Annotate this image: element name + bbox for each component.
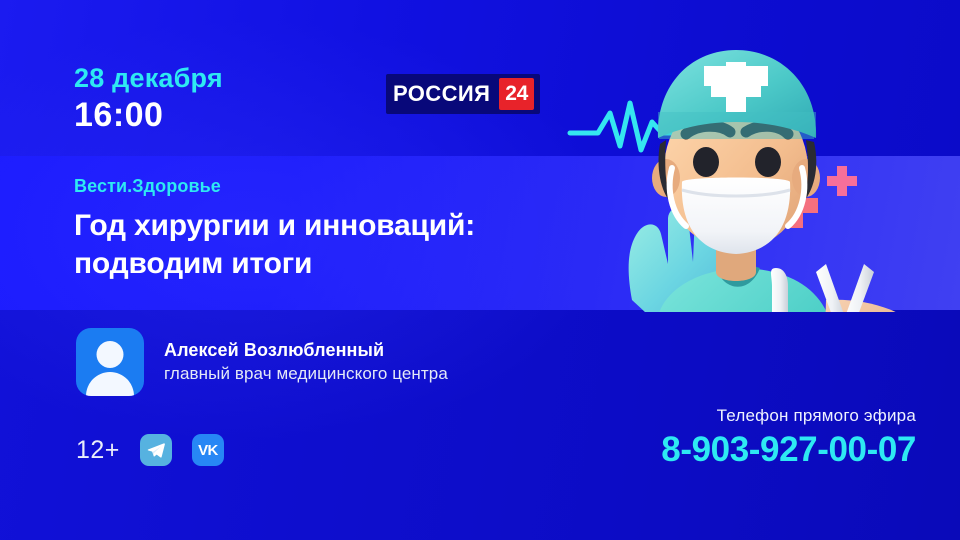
hotline-label: Телефон прямого эфира	[661, 406, 916, 426]
program-title: Год хирургии и инноваций: подводим итоги	[74, 207, 544, 284]
program-block: Вести.Здоровье Год хирургии и инноваций:…	[74, 176, 544, 284]
vk-glyph: VK	[198, 442, 218, 459]
hotline-block: Телефон прямого эфира 8-903-927-00-07	[661, 406, 916, 470]
broadcast-poster: РОССИЯ 24 28 декабря 16:00 Вести.Здоровь…	[0, 0, 960, 540]
hotline-number[interactable]: 8-903-927-00-07	[661, 431, 916, 470]
avatar-head	[97, 341, 124, 368]
channel-name: РОССИЯ	[393, 83, 490, 105]
channel-number-badge: 24	[499, 78, 534, 110]
guest-role: главный врач медицинского центра	[164, 364, 448, 384]
broadcast-datetime: 28 декабря 16:00	[74, 64, 223, 135]
channel-logo: РОССИЯ 24	[386, 74, 540, 114]
broadcast-time: 16:00	[74, 96, 223, 135]
person-avatar-icon	[76, 328, 144, 396]
program-title-line-2: подводим итоги	[74, 245, 544, 283]
telegram-icon[interactable]	[140, 434, 172, 466]
program-name: Вести.Здоровье	[74, 176, 544, 197]
footer-row: 12+ VK	[76, 434, 224, 466]
guest-block: Алексей Возлюбленный главный врач медици…	[76, 328, 448, 396]
age-rating-badge: 12+	[76, 436, 120, 465]
vk-icon[interactable]: VK	[192, 434, 224, 466]
program-title-line-1: Год хирургии и инноваций:	[74, 207, 544, 245]
guest-name: Алексей Возлюбленный	[164, 340, 448, 361]
avatar-body	[86, 372, 134, 396]
guest-text: Алексей Возлюбленный главный врач медици…	[164, 340, 448, 384]
broadcast-date: 28 декабря	[74, 64, 223, 92]
